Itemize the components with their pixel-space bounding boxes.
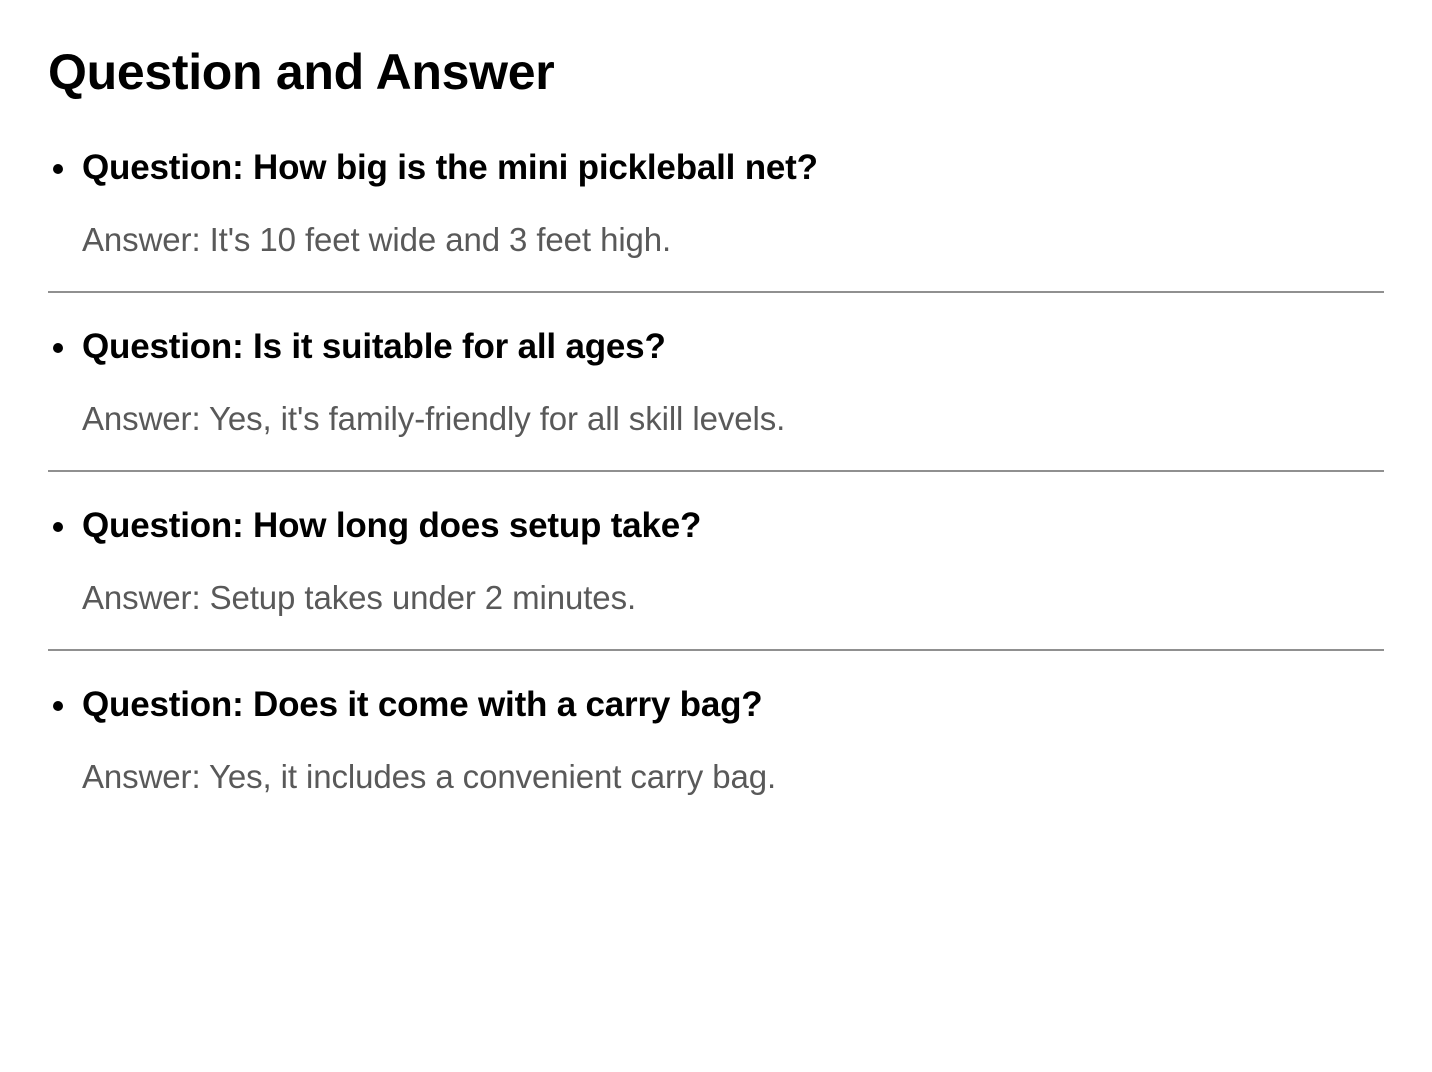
page-title: Question and Answer: [48, 0, 1384, 102]
bullet-icon: [53, 701, 63, 711]
qa-question-text: Question: Does it come with a carry bag?: [82, 685, 762, 724]
list-item: Question: Does it come with a carry bag?…: [48, 683, 1384, 798]
qa-question-text: Question: How big is the mini pickleball…: [82, 148, 818, 187]
qa-answer: Answer: Setup takes under 2 minutes.: [48, 547, 1384, 618]
bullet-icon: [53, 522, 63, 532]
list-item: Question: Is it suitable for all ages? A…: [48, 325, 1384, 472]
qa-question-text: Question: How long does setup take?: [82, 506, 701, 545]
qa-answer: Answer: Yes, it includes a convenient ca…: [48, 726, 1384, 797]
question-and-answer-page: Question and Answer Question: How big is…: [0, 0, 1432, 1072]
bullet-icon: [53, 164, 63, 174]
qa-divider: [48, 649, 1384, 651]
qa-question: Question: How long does setup take?: [48, 504, 1384, 548]
qa-divider: [48, 470, 1384, 472]
bullet-icon: [53, 343, 63, 353]
qa-question-text: Question: Is it suitable for all ages?: [82, 327, 666, 366]
qa-question: Question: Is it suitable for all ages?: [48, 325, 1384, 369]
list-item: Question: How big is the mini pickleball…: [48, 146, 1384, 293]
qa-list: Question: How big is the mini pickleball…: [48, 102, 1384, 798]
qa-answer: Answer: Yes, it's family-friendly for al…: [48, 368, 1384, 439]
qa-question: Question: How big is the mini pickleball…: [48, 146, 1384, 190]
qa-question: Question: Does it come with a carry bag?: [48, 683, 1384, 727]
list-item: Question: How long does setup take? Answ…: [48, 504, 1384, 651]
qa-divider: [48, 291, 1384, 293]
qa-answer: Answer: It's 10 feet wide and 3 feet hig…: [48, 189, 1384, 260]
